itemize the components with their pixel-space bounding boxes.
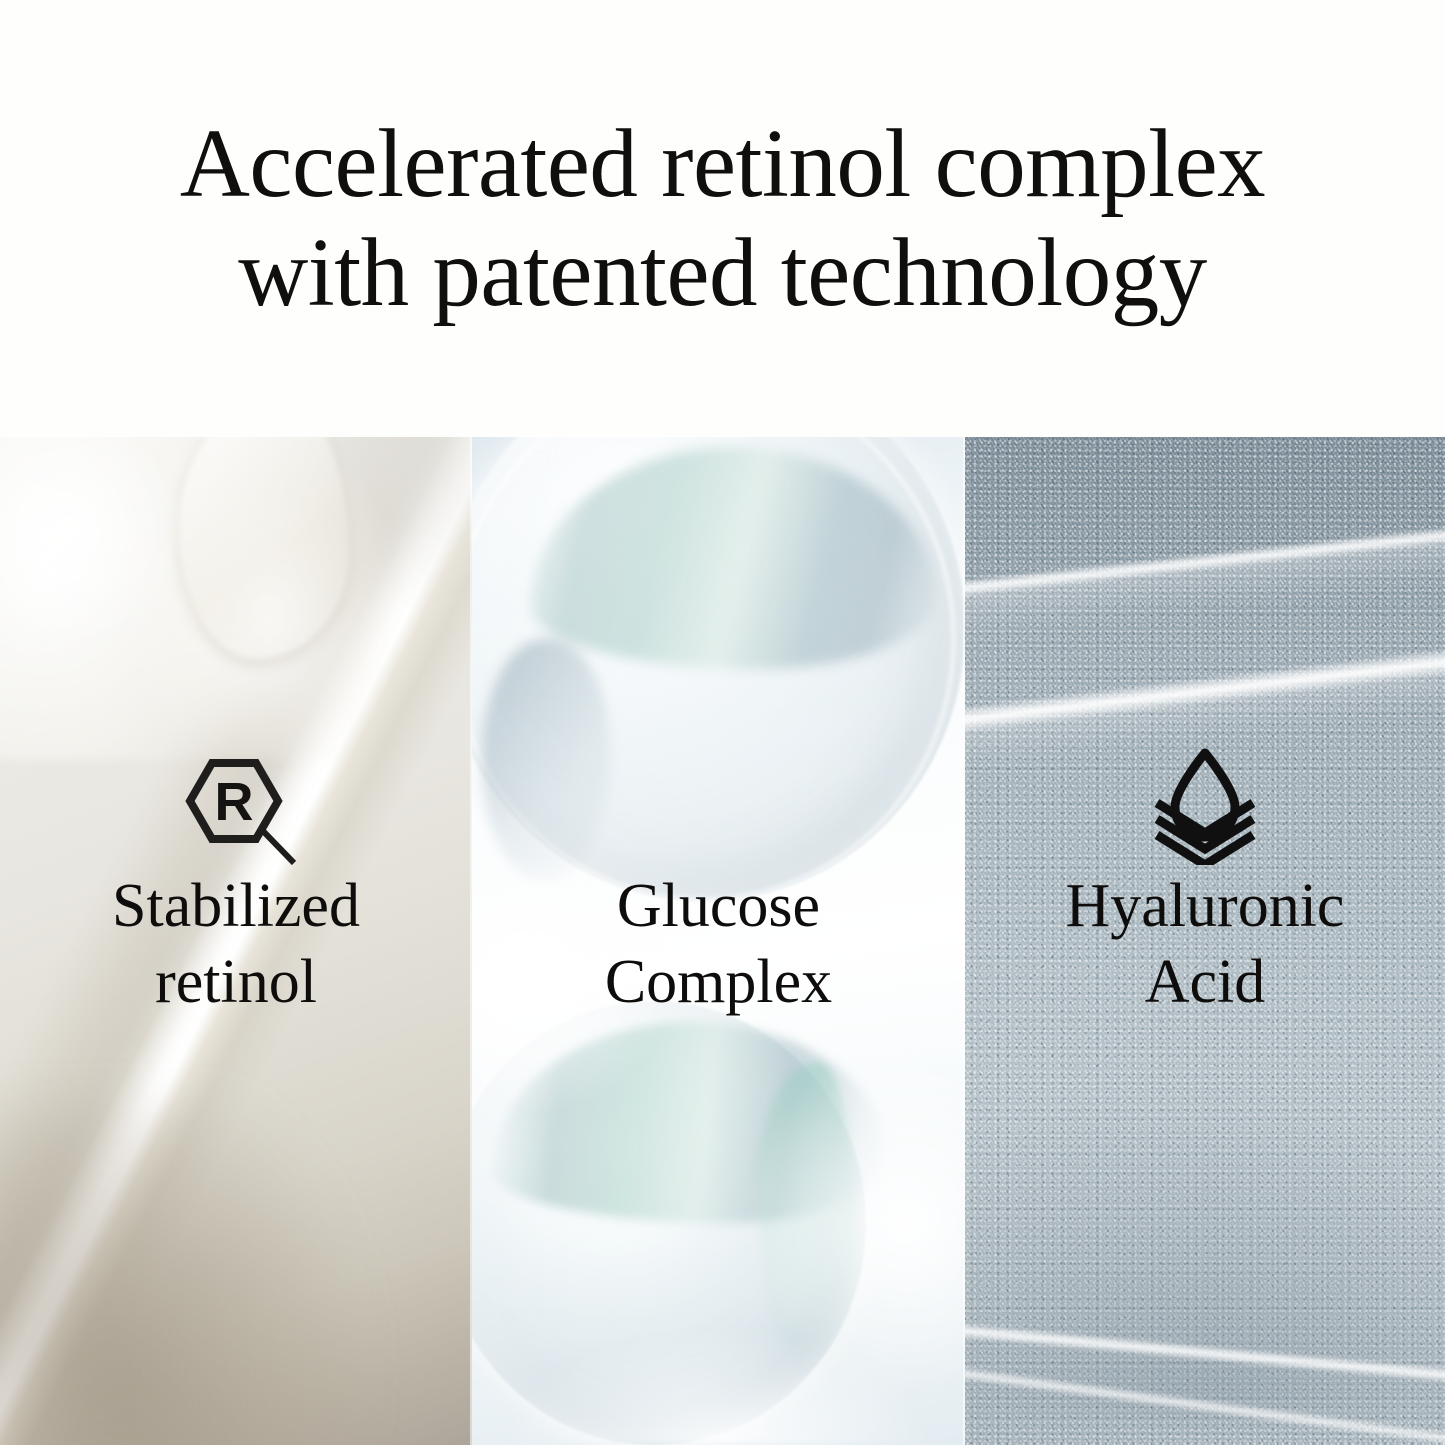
icon-container: R (0, 755, 472, 883)
ingredient-label-line-1: Stabilized (0, 869, 472, 945)
svg-text:R: R (215, 772, 254, 832)
ingredient-label-line-1: Hyaluronic (965, 869, 1445, 945)
cream-top-sheen (0, 437, 236, 679)
panel-divider-2 (963, 437, 965, 1445)
ingredient-panel-strip: R Stabilized retinol Glucose Complex (0, 437, 1445, 1445)
ingredient-panel-hyaluronic-acid[interactable]: Hyaluronic Acid (965, 437, 1445, 1445)
cream-warm-shadow (0, 1102, 396, 1445)
water-drop-layers-hydration-icon (1149, 747, 1261, 865)
icon-container (965, 747, 1445, 865)
headline-banner: Accelerated retinol complex with patente… (0, 0, 1445, 437)
page-title: Accelerated retinol complex with patente… (143, 110, 1303, 327)
ingredient-label-line-2: retinol (0, 945, 472, 1021)
ingredient-panel-glucose-complex[interactable]: Glucose Complex (472, 437, 965, 1445)
panel-divider-1 (470, 437, 472, 1445)
hexagon-r-retinol-icon: R (162, 755, 310, 883)
ingredient-caption: Hyaluronic Acid (965, 869, 1445, 1020)
product-ingredient-infographic: Accelerated retinol complex with patente… (0, 0, 1445, 1445)
ingredient-caption: Glucose Complex (472, 869, 965, 1020)
ingredient-label-line-2: Complex (472, 945, 965, 1021)
ingredient-panel-stabilized-retinol[interactable]: R Stabilized retinol (0, 437, 472, 1445)
ingredient-label-line-2: Acid (965, 945, 1445, 1021)
ingredient-caption: Stabilized retinol (0, 869, 472, 1020)
ingredient-label-line-1: Glucose (472, 869, 965, 945)
